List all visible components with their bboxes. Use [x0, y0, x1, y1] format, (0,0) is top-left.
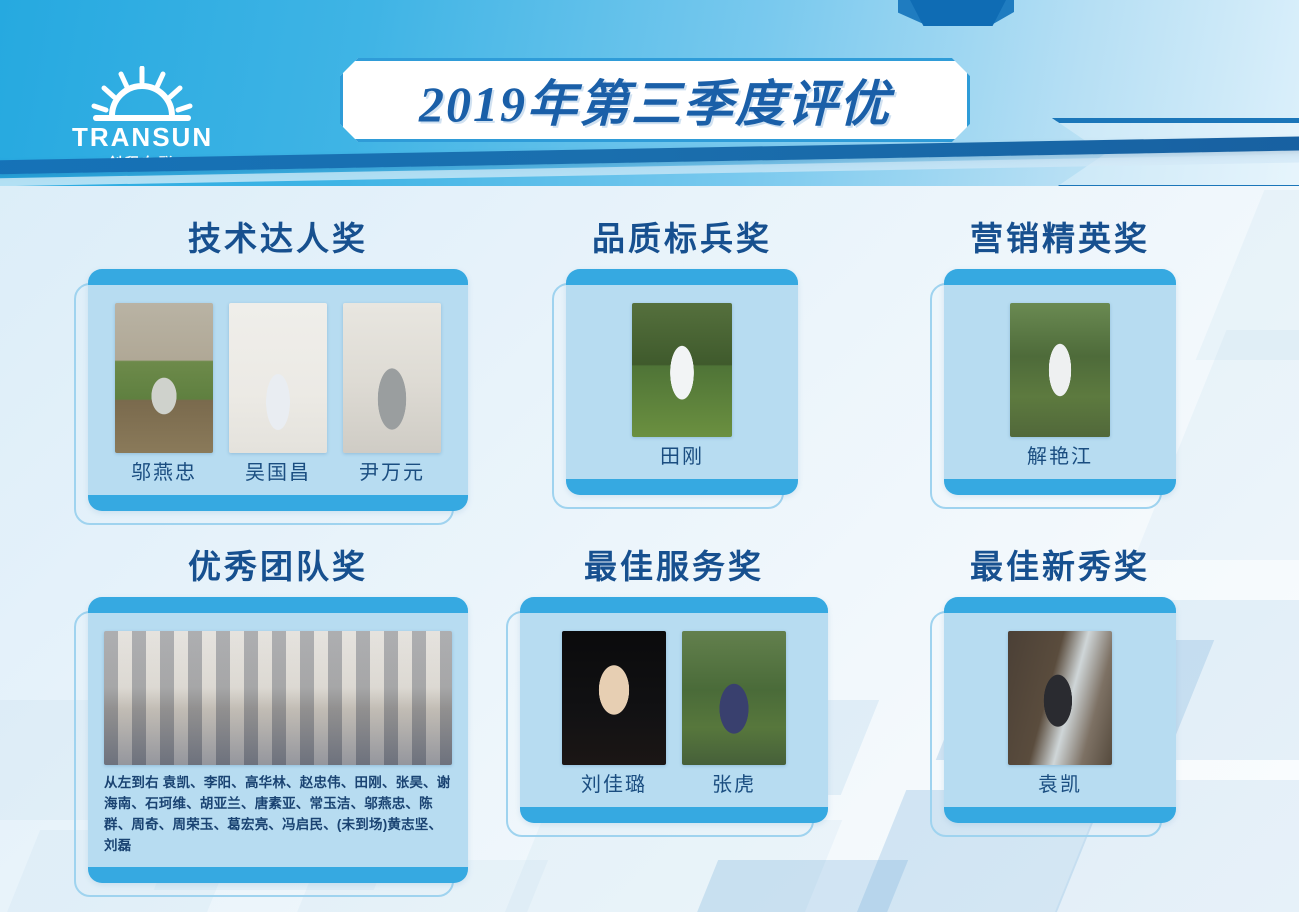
card-bottom-bar	[88, 867, 468, 883]
photo-row	[104, 631, 452, 765]
award-block-team: 优秀团队奖 从左到右 袁凯、李阳、高华林、赵忠伟、田刚、张昊、谢海南、石珂维、胡…	[88, 550, 468, 883]
card-body: 从左到右 袁凯、李阳、高华林、赵忠伟、田刚、张昊、谢海南、石珂维、胡亚兰、唐素亚…	[88, 613, 468, 867]
card-body: 解艳江	[944, 285, 1176, 479]
card-top-bar	[88, 597, 468, 613]
poster-header: TRANSUN 创程车联 2019年第三季度评优	[0, 0, 1299, 186]
person-item[interactable]: 袁凯	[1008, 631, 1112, 797]
award-card[interactable]: 从左到右 袁凯、李阳、高华林、赵忠伟、田刚、张昊、谢海南、石珂维、胡亚兰、唐素亚…	[88, 597, 468, 883]
card-notch-icon	[659, 269, 705, 270]
award-card-wrap: 解艳江	[944, 269, 1176, 495]
awards-grid: 技术达人奖 邬燕忠 吴国昌	[0, 200, 1299, 912]
award-card-wrap: 从左到右 袁凯、李阳、高华林、赵忠伟、田刚、张昊、谢海南、石珂维、胡亚兰、唐素亚…	[88, 597, 468, 883]
award-block-tech: 技术达人奖 邬燕忠 吴国昌	[88, 222, 468, 511]
award-title: 技术达人奖	[88, 222, 468, 255]
page-title: 2019年第三季度评优	[419, 64, 891, 136]
award-card-wrap: 刘佳璐 张虎	[520, 597, 828, 823]
award-block-rookie: 最佳新秀奖 袁凯	[944, 550, 1176, 823]
person-name: 田刚	[632, 445, 732, 469]
card-body: 袁凯	[944, 613, 1176, 807]
award-title: 营销精英奖	[944, 222, 1176, 255]
card-bottom-bar	[566, 479, 798, 495]
title-plate: 2019年第三季度评优	[340, 58, 970, 142]
sunrise-icon	[72, 66, 212, 122]
person-photo	[1010, 303, 1110, 437]
person-item[interactable]	[104, 631, 452, 765]
card-notch-icon	[1037, 269, 1083, 270]
photo-row: 邬燕忠 吴国昌 尹万元	[104, 303, 452, 485]
person-item[interactable]: 吴国昌	[229, 303, 327, 485]
person-photo	[632, 303, 732, 437]
award-title: 最佳新秀奖	[944, 550, 1176, 583]
person-item[interactable]: 尹万元	[343, 303, 441, 485]
card-bottom-bar	[520, 807, 828, 823]
award-block-service: 最佳服务奖 刘佳璐 张虎	[520, 550, 828, 823]
award-card[interactable]: 袁凯	[944, 597, 1176, 823]
photo-row: 田刚	[582, 303, 782, 469]
card-notch-icon	[651, 597, 697, 598]
person-name: 解艳江	[1010, 445, 1110, 469]
person-item[interactable]: 田刚	[632, 303, 732, 469]
award-block-quality: 品质标兵奖 田刚	[566, 222, 798, 495]
card-bottom-bar	[944, 479, 1176, 495]
card-top-bar	[944, 269, 1176, 285]
person-item[interactable]: 张虎	[682, 631, 786, 797]
award-card[interactable]: 田刚	[566, 269, 798, 495]
award-card[interactable]: 解艳江	[944, 269, 1176, 495]
team-roster-text: 从左到右 袁凯、李阳、高华林、赵忠伟、田刚、张昊、谢海南、石珂维、胡亚兰、唐素亚…	[104, 773, 452, 857]
card-notch-icon	[1037, 597, 1083, 598]
card-body: 刘佳璐 张虎	[520, 613, 828, 807]
person-name: 邬燕忠	[115, 461, 213, 485]
card-body: 田刚	[566, 285, 798, 479]
award-card-wrap: 袁凯	[944, 597, 1176, 823]
person-item[interactable]: 邬燕忠	[115, 303, 213, 485]
award-poster: TRANSUN 创程车联 2019年第三季度评优 技术达人奖	[0, 0, 1299, 912]
person-name: 刘佳璐	[562, 773, 666, 797]
person-photo	[562, 631, 666, 765]
person-item[interactable]: 刘佳璐	[562, 631, 666, 797]
photo-row: 袁凯	[960, 631, 1160, 797]
card-notch-icon	[255, 597, 301, 598]
person-item[interactable]: 解艳江	[1010, 303, 1110, 469]
card-top-bar	[520, 597, 828, 613]
award-block-marketing: 营销精英奖 解艳江	[944, 222, 1176, 495]
person-name: 张虎	[682, 773, 786, 797]
card-bottom-bar	[944, 807, 1176, 823]
person-name: 袁凯	[1008, 773, 1112, 797]
award-title: 最佳服务奖	[520, 550, 828, 583]
award-card[interactable]: 邬燕忠 吴国昌 尹万元	[88, 269, 468, 511]
award-title: 优秀团队奖	[88, 550, 468, 583]
award-card[interactable]: 刘佳璐 张虎	[520, 597, 828, 823]
photo-row: 刘佳璐 张虎	[536, 631, 812, 797]
award-title: 品质标兵奖	[566, 222, 798, 255]
award-card-wrap: 田刚	[566, 269, 798, 495]
person-photo	[682, 631, 786, 765]
person-name: 吴国昌	[229, 461, 327, 485]
card-top-bar	[944, 597, 1176, 613]
card-bottom-bar	[88, 495, 468, 511]
card-top-bar	[88, 269, 468, 285]
card-body: 邬燕忠 吴国昌 尹万元	[88, 285, 468, 495]
person-photo	[229, 303, 327, 453]
photo-row: 解艳江	[960, 303, 1160, 469]
person-photo	[115, 303, 213, 453]
person-photo	[1008, 631, 1112, 765]
person-name: 尹万元	[343, 461, 441, 485]
header-chevron-block-inner	[910, 0, 1006, 26]
team-photo	[104, 631, 452, 765]
card-top-bar	[566, 269, 798, 285]
person-photo	[343, 303, 441, 453]
award-card-wrap: 邬燕忠 吴国昌 尹万元	[88, 269, 468, 511]
logo-wordmark: TRANSUN	[72, 124, 212, 150]
card-notch-icon	[255, 269, 301, 270]
